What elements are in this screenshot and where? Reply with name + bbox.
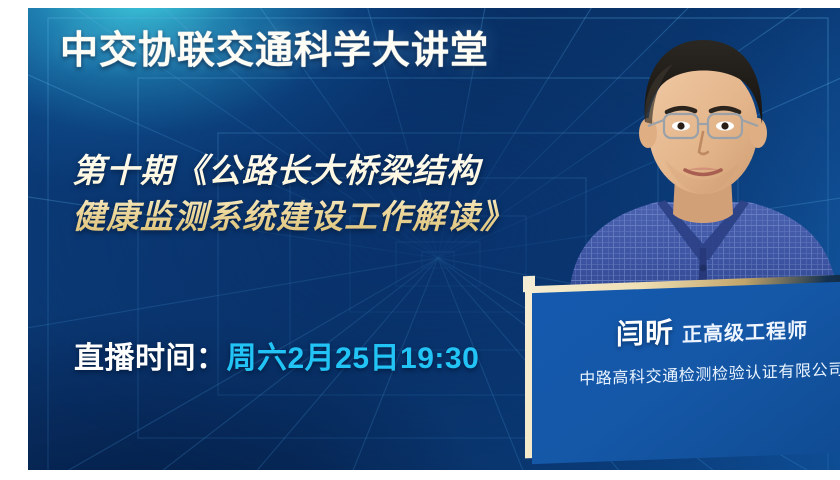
episode-subtitle: 第十期《公路长大桥梁结构 健康监测系统建设工作解读》 [72, 148, 602, 239]
episode-subtitle-line-2: 健康监测系统建设工作解读》 [72, 194, 602, 240]
broadcast-time-label: 直播时间： [74, 342, 227, 375]
speaker-name: 闫昕 [616, 311, 674, 353]
speaker-organization: 中路高科交通检测检验认证有限公司 [579, 356, 840, 390]
broadcast-time-value: 周六2月25日19:30 [227, 342, 480, 375]
speaker-title: 正高级工程师 [682, 314, 808, 348]
episode-subtitle-line-1: 第十期《公路长大桥梁结构 [72, 148, 602, 194]
poster-root: 中交协联交通科学大讲堂 第十期《公路长大桥梁结构 健康监测系统建设工作解读》 直… [0, 0, 840, 480]
broadcast-time: 直播时间：周六2月25日19:30 [74, 333, 479, 377]
page-title: 中交协联交通科学大讲堂 [60, 30, 489, 73]
speaker-name-row: 闫昕 正高级工程师 [616, 306, 808, 353]
poster-stage: 中交协联交通科学大讲堂 第十期《公路长大桥梁结构 健康监测系统建设工作解读》 直… [28, 8, 840, 470]
speaker-namecard-content: 闫昕 正高级工程师 中路高科交通检测检验认证有限公司 [525, 274, 840, 459]
